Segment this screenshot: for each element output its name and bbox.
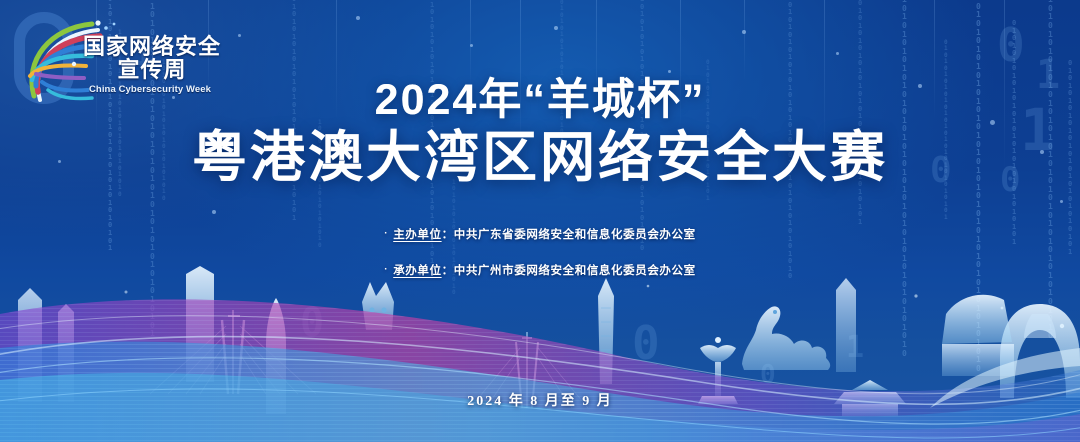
organizer-row-coorganizer: ·承办单位：中共广州市委网络安全和信息化委员会办公室 xyxy=(0,262,1080,278)
organizer-label: 承办单位 xyxy=(393,265,441,277)
bullet-icon: · xyxy=(384,264,388,275)
logo-chinese-text: 国家网络安全 宣传周 xyxy=(82,36,222,81)
organizer-row-host: ·主办单位：中共广东省委网络安全和信息化委员会办公室 xyxy=(0,226,1080,242)
organizer-value: 中共广东省委网络安全和信息化委员会办公室 xyxy=(454,229,696,241)
logo-cn-line1: 国家网络安全 xyxy=(83,34,221,59)
glow-dot xyxy=(212,210,216,214)
event-date-text: 2024 年 8 月至 9 月 xyxy=(0,390,1080,410)
big-binary-digit: 0 xyxy=(997,18,1025,72)
bullet-icon: · xyxy=(384,228,388,239)
wave-mesh-group xyxy=(0,299,1080,442)
glow-dot xyxy=(836,52,839,55)
glow-dot xyxy=(238,34,241,37)
glow-dot xyxy=(668,70,671,73)
banner-title-line2: 粤港澳大湾区网络安全大赛 xyxy=(0,128,1080,187)
glow-dot xyxy=(1060,200,1063,203)
organizer-value: 中共广州市委网络安全和信息化委员会办公室 xyxy=(454,265,696,277)
organizer-list: ·主办单位：中共广东省委网络安全和信息化委员会办公室 ·承办单位：中共广州市委网… xyxy=(0,226,1080,298)
glow-dot xyxy=(554,26,558,30)
light-streak xyxy=(744,0,745,80)
banner-title-line1: 2024年“羊城杯” xyxy=(0,78,1080,124)
glow-dot xyxy=(470,44,473,47)
glow-dot xyxy=(356,16,360,20)
event-banner: 0 1 1 0 1 0 0 0 1 0 01010101010101010101… xyxy=(0,0,1080,442)
organizer-separator: ： xyxy=(442,229,454,241)
banner-title-group: 2024年“羊城杯” 粤港澳大湾区网络安全大赛 xyxy=(0,78,1080,187)
organizer-label: 主办单位 xyxy=(393,229,441,241)
organizer-separator: ： xyxy=(442,265,454,277)
glow-dot xyxy=(742,30,746,34)
